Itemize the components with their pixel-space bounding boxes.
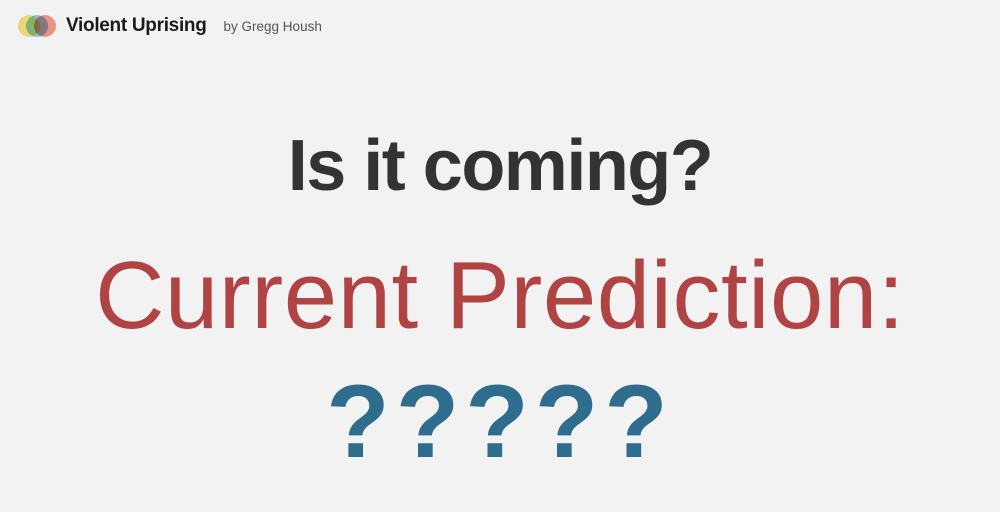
logo-circle-salmon <box>34 15 56 37</box>
slide-headline: Is it coming? <box>0 130 1000 202</box>
brand-header: Violent Uprising by Gregg Housh <box>0 0 1000 52</box>
slide-body: Is it coming? Current Prediction: ????? <box>0 52 1000 512</box>
brand-name: Violent Uprising <box>66 15 207 37</box>
brand-byline: by Gregg Housh <box>224 19 322 34</box>
violent-uprising-logo-icon <box>18 15 56 37</box>
slide-subline: Current Prediction: <box>0 248 1000 344</box>
prediction-value: ????? <box>0 370 1000 474</box>
